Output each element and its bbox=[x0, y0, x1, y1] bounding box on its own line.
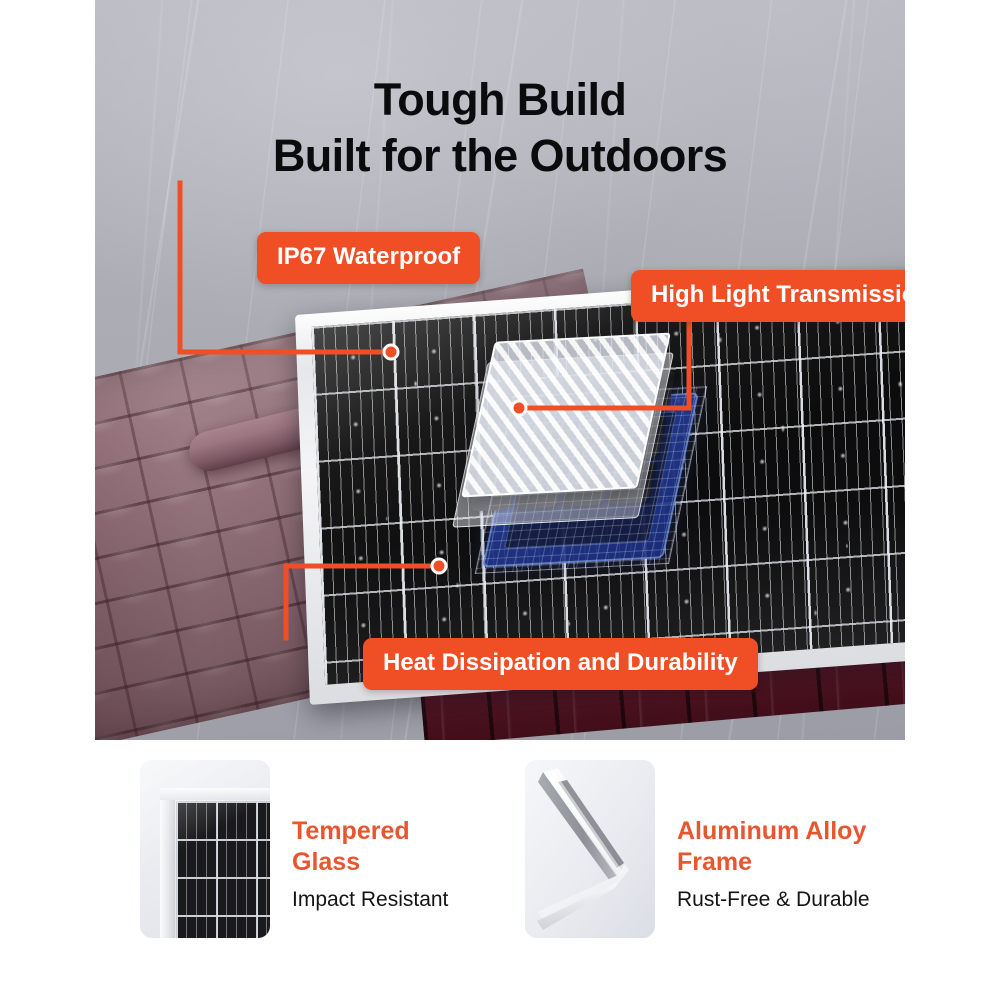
feature-title-tempered-glass: Tempered Glass bbox=[292, 816, 448, 878]
aluminum-frame-illustration bbox=[525, 760, 655, 938]
feature-subtitle-aluminum-alloy-frame: Rust-Free & Durable bbox=[677, 887, 870, 913]
glass-highlight bbox=[140, 760, 270, 938]
tempered-glass-layer bbox=[461, 333, 671, 498]
feature-row: Tempered Glass Impact Resistant bbox=[0, 760, 1000, 1000]
callout-label-high-light-transmission: High Light Transmission bbox=[631, 270, 905, 322]
feature-aluminum-alloy-frame: Aluminum Alloy Frame Rust-Free & Durable bbox=[525, 760, 870, 938]
hero-title: Tough Build Built for the Outdoors bbox=[95, 72, 905, 184]
feature-text-aluminum-alloy-frame: Aluminum Alloy Frame Rust-Free & Durable bbox=[677, 760, 870, 913]
hero-title-line-2: Built for the Outdoors bbox=[95, 128, 905, 184]
feature-subtitle-tempered-glass: Impact Resistant bbox=[292, 887, 448, 913]
callout-label-heat-dissipation-and-durability: Heat Dissipation and Durability bbox=[363, 638, 758, 690]
exploded-layer-diagram bbox=[465, 335, 685, 570]
aluminum-frame-corner-photo bbox=[525, 760, 655, 938]
feature-text-tempered-glass: Tempered Glass Impact Resistant bbox=[292, 760, 448, 913]
callout-label-ip67-waterproof: IP67 Waterproof bbox=[257, 232, 480, 284]
hero-photo: Tough Build Built for the Outdoors IP67 … bbox=[95, 0, 905, 740]
feature-tempered-glass: Tempered Glass Impact Resistant bbox=[140, 760, 448, 938]
feature-title-aluminum-alloy-frame: Aluminum Alloy Frame bbox=[677, 816, 870, 878]
solar-panel-corner-photo bbox=[140, 760, 270, 938]
hero-title-line-1: Tough Build bbox=[95, 72, 905, 128]
